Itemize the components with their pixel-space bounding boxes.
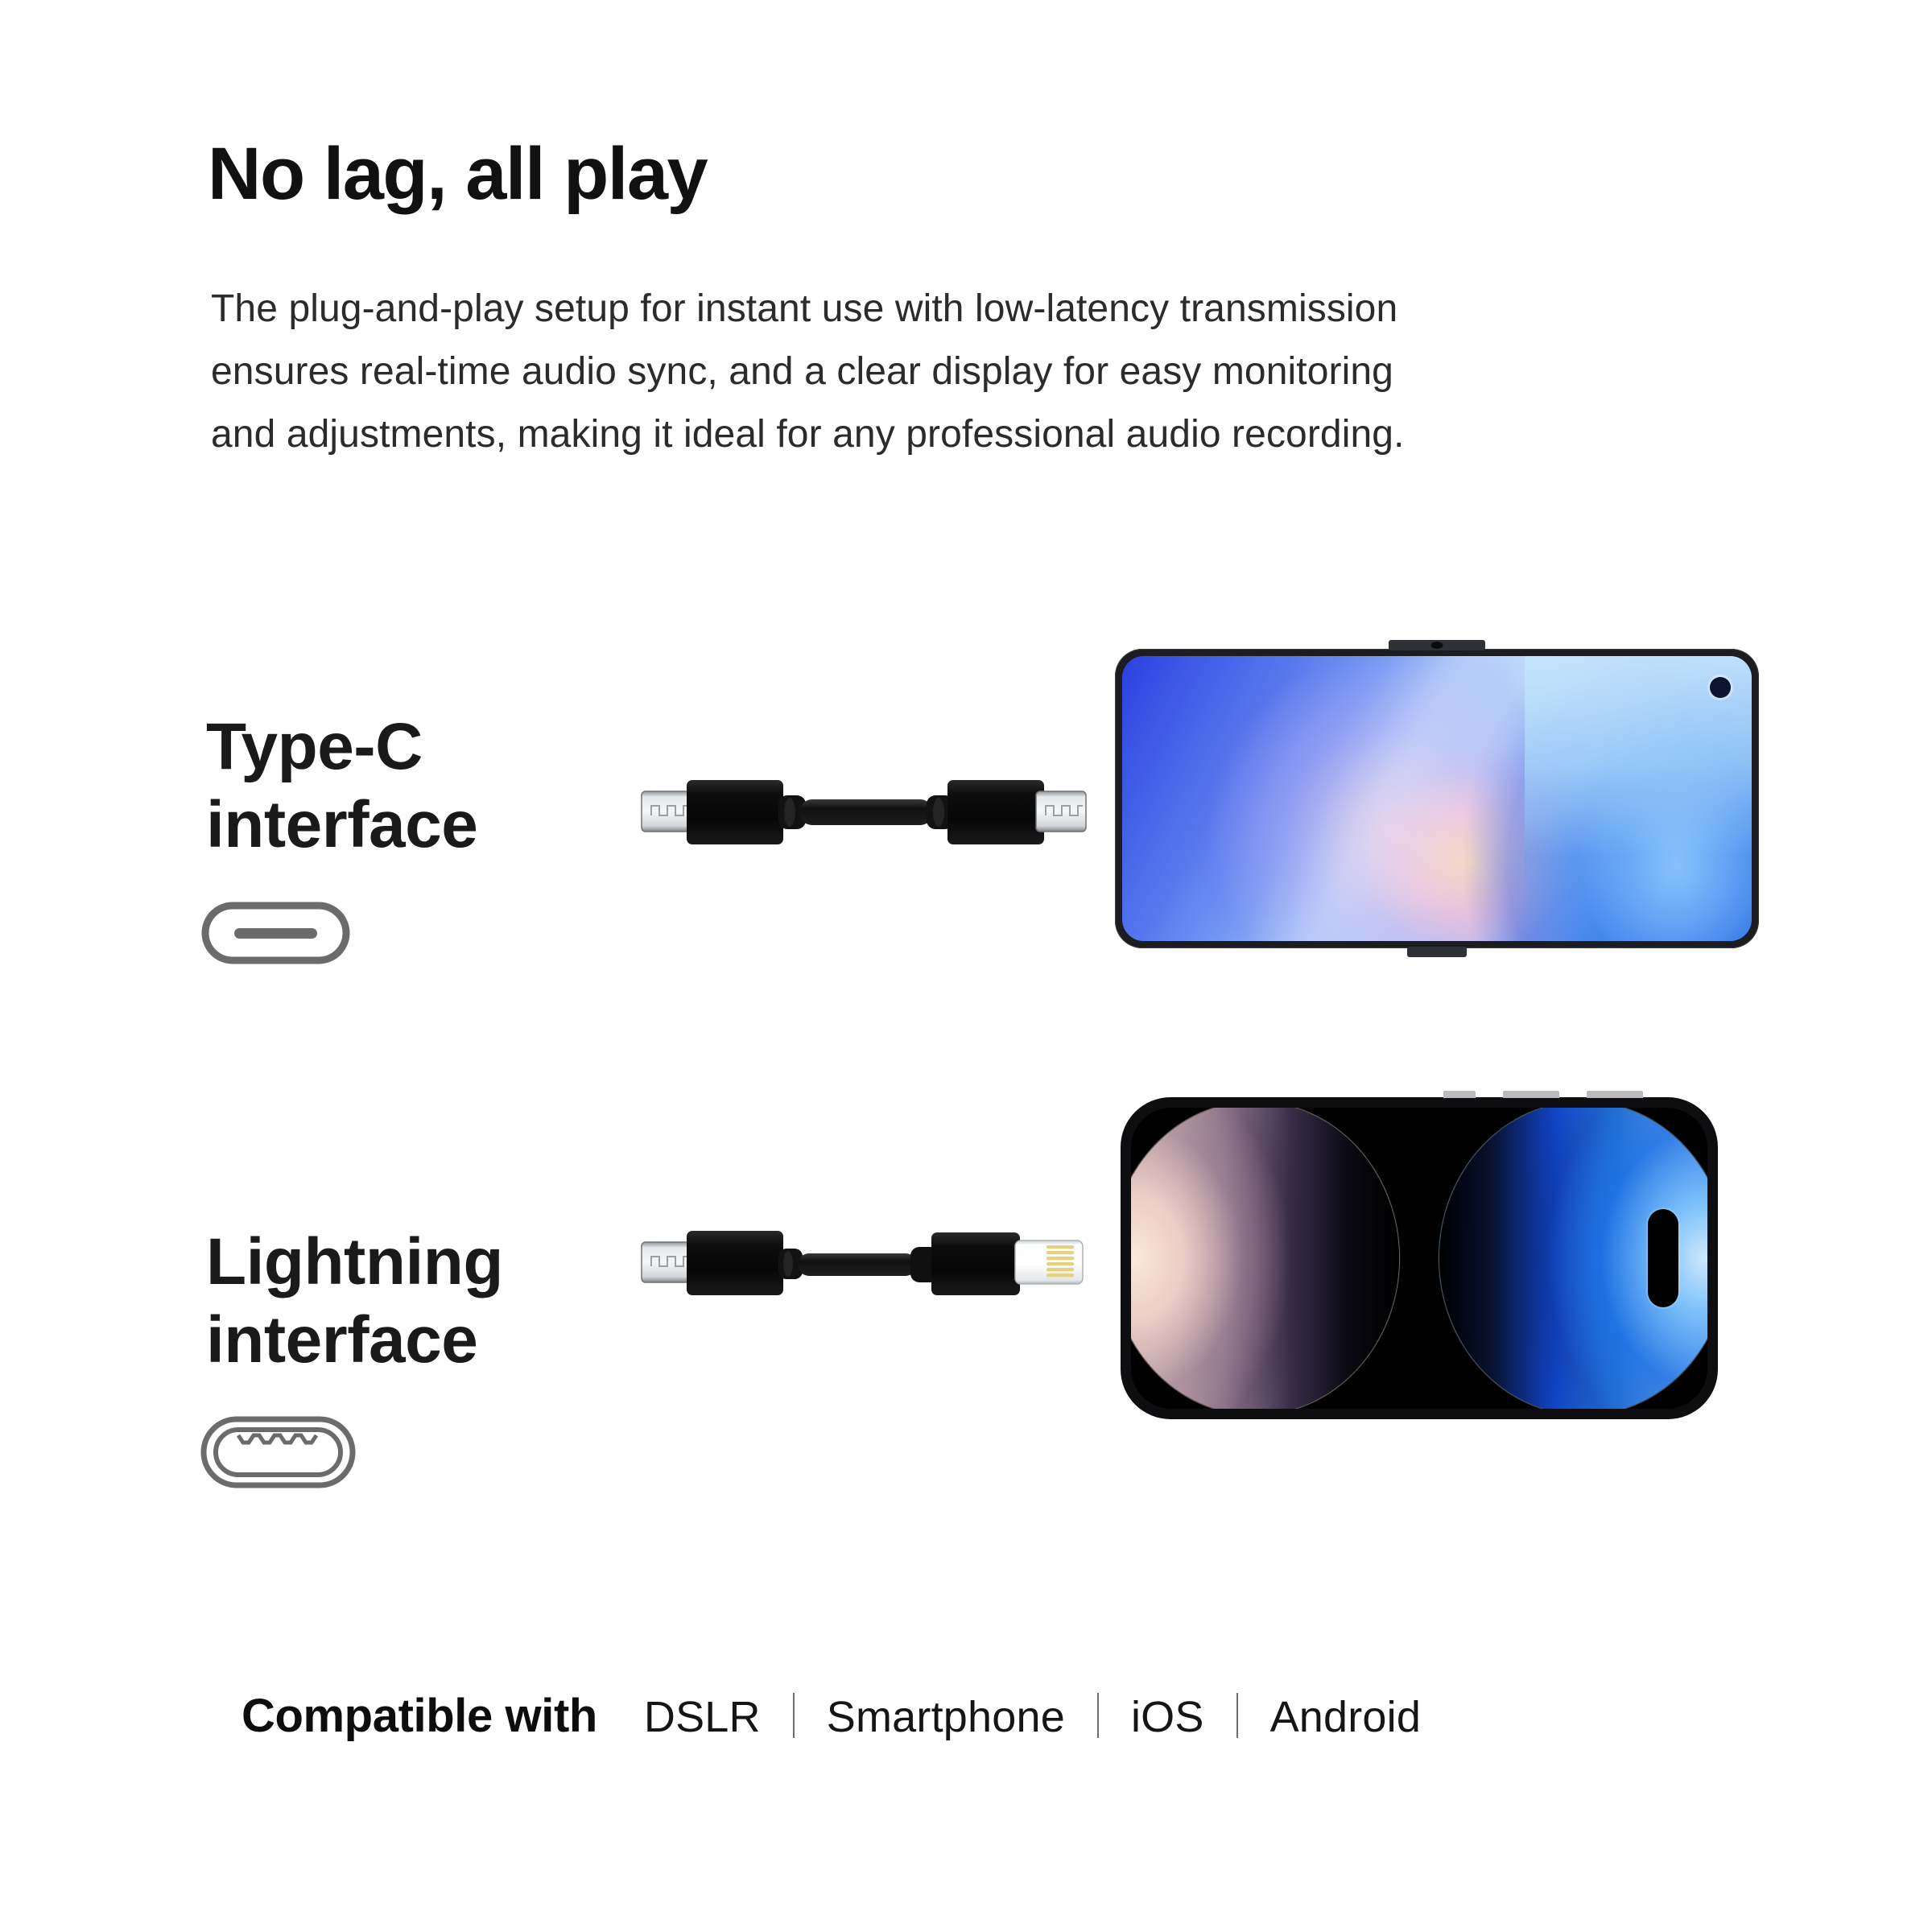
compatibility-divider	[1236, 1693, 1238, 1738]
type-c-label-line1: Type-C	[206, 708, 477, 786]
lightning-label-line1: Lightning	[206, 1224, 503, 1302]
iphone-dynamic-island	[1648, 1209, 1678, 1307]
compatibility-list: DSLR Smartphone iOS Android	[644, 1686, 1421, 1742]
compatibility-divider	[1097, 1693, 1099, 1738]
android-phone-mockup	[1115, 649, 1759, 948]
compatibility-item-ios: iOS	[1131, 1692, 1204, 1742]
compatibility-bar: Compatible with DSLR Smartphone iOS Andr…	[0, 1686, 1932, 1743]
type-c-label-line2: interface	[206, 786, 477, 865]
iphone-screen	[1131, 1108, 1707, 1409]
android-wallpaper-highlight	[1525, 656, 1752, 941]
usb-c-port-icon	[201, 902, 350, 968]
page-description: The plug-and-play setup for instant use …	[211, 278, 1467, 465]
compatibility-item-smartphone: Smartphone	[827, 1692, 1065, 1742]
android-bottom-nub	[1407, 947, 1467, 957]
usb-c-to-usb-c-cable-image	[640, 769, 1087, 861]
page-title: No lag, all play	[208, 135, 707, 213]
compatibility-title: Compatible with	[242, 1689, 597, 1743]
iphone-wallpaper-left-loop	[1131, 1108, 1399, 1409]
iphone-volume-down-button-icon	[1587, 1091, 1643, 1098]
android-front-camera-dot	[1431, 642, 1443, 649]
android-punch-hole-camera-icon	[1710, 677, 1731, 698]
android-screen	[1122, 656, 1752, 941]
compatibility-divider	[793, 1693, 795, 1738]
lightning-label-line2: interface	[206, 1302, 503, 1380]
iphone-silent-switch-icon	[1443, 1091, 1476, 1098]
lightning-interface-label: Lightning interface	[206, 1224, 503, 1380]
compatibility-item-dslr: DSLR	[644, 1692, 761, 1742]
compatibility-item-android: Android	[1270, 1692, 1422, 1742]
type-c-interface-label: Type-C interface	[206, 708, 477, 865]
iphone-mockup	[1121, 1097, 1718, 1419]
lightning-port-icon	[200, 1415, 357, 1493]
usb-c-to-lightning-cable-image	[640, 1220, 1087, 1312]
iphone-volume-up-button-icon	[1503, 1091, 1559, 1098]
